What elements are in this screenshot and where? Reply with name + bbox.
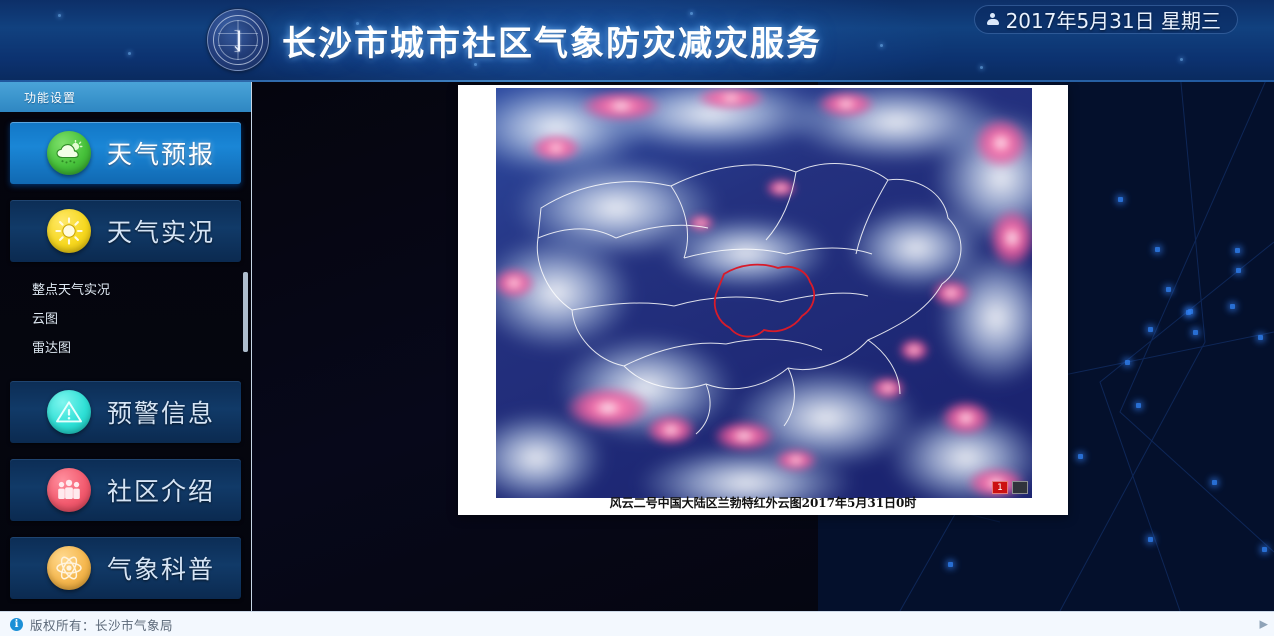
sidebar-item-label: 社区介绍 [107, 472, 215, 508]
sidebar-item-label: 天气实况 [107, 213, 215, 249]
sidebar: 功能设置 [0, 82, 252, 611]
warning-triangle-icon [47, 390, 91, 434]
image-nav-buttons: 1 [992, 481, 1028, 494]
sidebar-menu: 天气预报 [0, 112, 251, 599]
image-next-button[interactable] [1012, 481, 1028, 494]
cloud-sun-rain-icon [47, 131, 91, 175]
info-icon: i [10, 618, 23, 631]
sidebar-subitem-hourly-observation[interactable]: 整点天气实况 [0, 274, 251, 303]
sidebar-item-warning-info[interactable]: 预警信息 [10, 381, 241, 443]
atom-icon [47, 546, 91, 590]
satellite-image[interactable]: 1 [496, 88, 1032, 498]
satellite-image-canvas [496, 88, 1032, 498]
body-area: 功能设置 [0, 82, 1274, 611]
sidebar-submenu: 整点天气实况 云图 雷达图 [0, 270, 251, 367]
sidebar-item-weather-science[interactable]: 气象科普 [10, 537, 241, 599]
content-area: 1 风云二号中国大陆区兰勃特红外云图2017年5月31日0时 [252, 82, 1274, 611]
sun-icon [47, 209, 91, 253]
sidebar-item-community-intro[interactable]: 社区介绍 [10, 459, 241, 521]
sidebar-item-weather-forecast[interactable]: 天气预报 [10, 122, 241, 184]
app-header: ⦎ 长沙市城市社区气象防灾减灾服务 2017年5月31日 星期三 [0, 0, 1274, 82]
copyright-text: 版权所有：长沙市气象局 [30, 615, 173, 634]
submenu-scrollbar[interactable] [243, 272, 248, 352]
cma-logo: ⦎ [207, 9, 269, 71]
logo-swirl-icon: ⦎ [234, 26, 243, 52]
sidebar-subitem-cloud-map[interactable]: 云图 [0, 303, 251, 332]
page-title: 长沙市城市社区气象防灾减灾服务 [282, 16, 822, 65]
footer-bar: i 版权所有：长沙市气象局 ▶ [0, 611, 1274, 636]
sidebar-item-label: 气象科普 [107, 550, 215, 586]
app-root: ⦎ 长沙市城市社区气象防灾减灾服务 2017年5月31日 星期三 [0, 0, 1274, 636]
sidebar-item-label: 预警信息 [107, 394, 215, 430]
user-icon [987, 13, 999, 26]
image-caption: 风云二号中国大陆区兰勃特红外云图2017年5月31日0时 [458, 494, 1068, 511]
date-badge-text: 2017年5月31日 星期三 [1006, 5, 1221, 34]
scroll-right-arrow-icon[interactable]: ▶ [1260, 618, 1268, 631]
sidebar-subitem-radar-map[interactable]: 雷达图 [0, 332, 251, 361]
cloud-map-panel: 1 风云二号中国大陆区兰勃特红外云图2017年5月31日0时 [458, 85, 1068, 515]
sidebar-item-weather-live[interactable]: 天气实况 [10, 200, 241, 262]
date-badge: 2017年5月31日 星期三 [974, 5, 1238, 34]
image-page-button-1[interactable]: 1 [992, 481, 1008, 494]
sidebar-panel-title: 功能设置 [0, 82, 252, 112]
people-group-icon [47, 468, 91, 512]
sidebar-item-label: 天气预报 [107, 135, 215, 171]
